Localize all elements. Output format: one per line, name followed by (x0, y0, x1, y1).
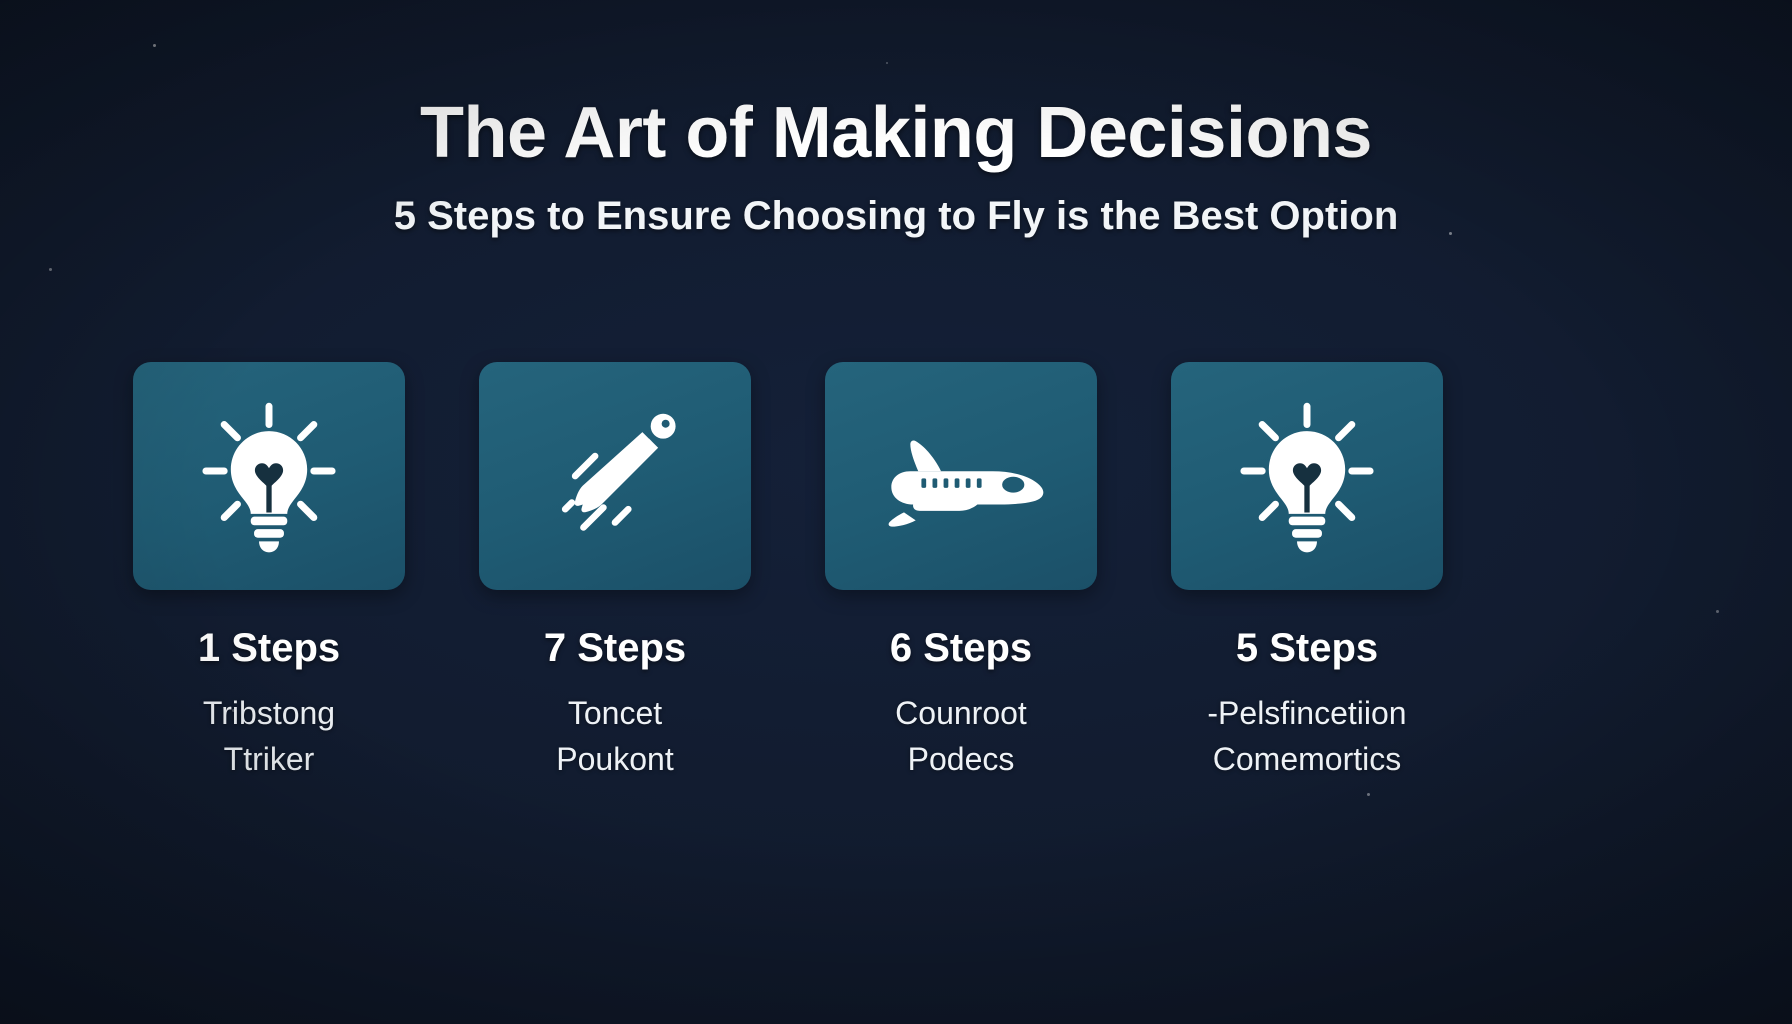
caption-line-1: -Pelsfincetiion (1207, 690, 1406, 736)
pen-icon (532, 393, 698, 559)
caption-line-1: Tribstong (203, 690, 335, 736)
step-card[interactable]: 7 Steps Toncet Poukont (479, 362, 751, 783)
airplane-icon (866, 401, 1056, 551)
caption-line-2: Podecs (895, 736, 1027, 782)
icon-tile (825, 362, 1097, 590)
page-title: The Art of Making Decisions (0, 96, 1792, 172)
card-caption: -Pelsfincetiion Comemortics (1207, 690, 1406, 783)
page-subtitle: 5 Steps to Ensure Choosing to Fly is the… (0, 194, 1792, 238)
card-caption: Counroot Podecs (895, 690, 1027, 783)
caption-line-2: Poukont (556, 736, 673, 782)
step-card[interactable]: 6 Steps Counroot Podecs (825, 362, 1097, 783)
star-speck (1367, 793, 1370, 796)
icon-tile (1171, 362, 1443, 590)
star-speck (1716, 610, 1719, 613)
card-caption: Tribstong Ttriker (203, 690, 335, 783)
step-count: 5 Steps (1236, 628, 1378, 668)
star-speck (153, 44, 156, 47)
step-card[interactable]: 1 Steps Tribstong Ttriker (133, 362, 405, 783)
caption-line-2: Comemortics (1207, 736, 1406, 782)
step-count: 7 Steps (544, 628, 686, 668)
caption-line-1: Toncet (556, 690, 673, 736)
icon-tile (133, 362, 405, 590)
caption-line-2: Ttriker (203, 736, 335, 782)
infographic-page: The Art of Making Decisions 5 Steps to E… (0, 0, 1792, 1024)
card-row: 1 Steps Tribstong Ttriker (133, 362, 1443, 783)
star-speck (49, 268, 52, 271)
icon-tile (479, 362, 751, 590)
card-caption: Toncet Poukont (556, 690, 673, 783)
star-speck (886, 62, 888, 64)
caption-line-1: Counroot (895, 690, 1027, 736)
header: The Art of Making Decisions 5 Steps to E… (0, 96, 1792, 238)
step-count: 1 Steps (198, 628, 340, 668)
step-count: 6 Steps (890, 628, 1032, 668)
lightbulb-icon (186, 393, 352, 559)
step-card[interactable]: 5 Steps -Pelsfincetiion Comemortics (1171, 362, 1443, 783)
lightbulb-icon (1224, 393, 1390, 559)
